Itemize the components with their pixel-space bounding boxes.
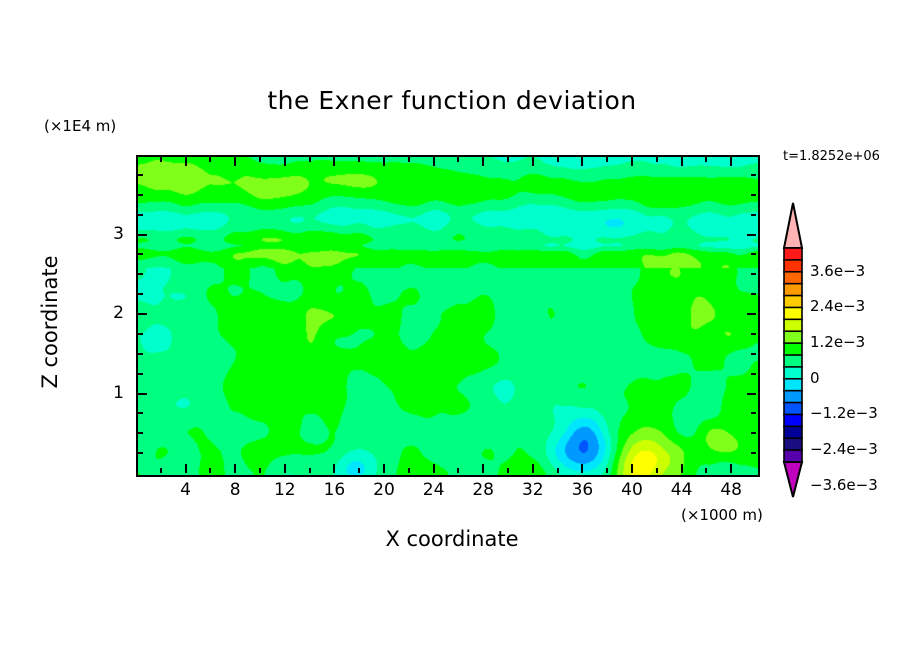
x-tick [581,157,583,166]
x-tick [160,157,162,162]
y-tick [138,412,143,414]
x-tick [160,468,162,473]
x-tick [532,464,534,473]
y-tick [747,313,756,315]
colorbar-tick-label: −1.2e−3 [810,404,878,422]
x-tick-label: 40 [612,480,652,500]
x-tick [408,468,410,473]
x-tick [259,468,261,473]
y-tick [751,273,756,275]
x-tick [681,464,683,473]
colorbar-segment [784,319,802,331]
y-tick [138,313,147,315]
x-tick [333,464,335,473]
y-tick [751,452,756,454]
x-tick [532,157,534,166]
contour-plot-area [136,155,760,477]
x-tick-label: 48 [711,480,751,500]
x-axis-unit-label: (×1000 m) [681,506,763,524]
y-tick [138,373,143,375]
colorbar-segment [784,414,802,426]
timestamp-annotation: t=1.8252e+06 [783,149,880,164]
colorbar-over-arrow [784,203,802,248]
x-tick [259,157,261,162]
x-tick [557,157,559,162]
colorbar-segment [784,260,802,272]
y-tick [138,432,143,434]
x-tick-label: 36 [562,480,602,500]
colorbar-segment [784,379,802,391]
y-tick [138,452,143,454]
y-tick [751,432,756,434]
x-tick [656,157,658,162]
x-tick-label: 4 [166,480,206,500]
colorbar-segment [784,272,802,284]
y-tick [751,253,756,255]
x-tick [557,468,559,473]
colorbar-segment [784,307,802,319]
x-tick [730,157,732,166]
x-tick [482,157,484,166]
x-tick [581,464,583,473]
y-tick [138,333,143,335]
x-tick [284,157,286,166]
contour-field-canvas [138,157,758,475]
x-tick [631,464,633,473]
x-tick-label: 32 [513,480,553,500]
x-tick [606,468,608,473]
colorbar-tick-label: 2.4e−3 [810,297,865,315]
colorbar-under-arrow [784,462,802,497]
x-tick [333,157,335,166]
x-tick [358,157,360,162]
y-axis-unit-label: (×1E4 m) [44,117,116,135]
x-tick [209,468,211,473]
y-tick [751,373,756,375]
x-tick [705,468,707,473]
x-tick [309,468,311,473]
x-tick [457,157,459,162]
x-tick [234,464,236,473]
x-tick [482,464,484,473]
x-tick-label: 44 [662,480,702,500]
y-tick [138,253,143,255]
x-tick [358,468,360,473]
colorbar-segment [784,367,802,379]
colorbar-segment [784,331,802,343]
x-tick [209,157,211,162]
x-tick [433,157,435,166]
x-tick-label: 24 [414,480,454,500]
x-axis-title: X coordinate [0,527,904,551]
x-tick [457,468,459,473]
x-tick [433,464,435,473]
colorbar-tick-label: −3.6e−3 [810,476,878,494]
colorbar-segment [784,343,802,355]
colorbar-segment [784,391,802,403]
colorbar-segment [784,403,802,415]
y-tick [751,333,756,335]
x-tick [234,157,236,166]
y-tick [747,234,756,236]
y-tick [138,293,143,295]
colorbar-svg [778,200,808,500]
x-tick-label: 8 [215,480,255,500]
x-tick [507,157,509,162]
x-tick [681,157,683,166]
x-tick [284,464,286,473]
x-tick [631,157,633,166]
x-tick [185,157,187,166]
x-tick [705,157,707,162]
x-tick-label: 12 [265,480,305,500]
y-tick-label: 3 [94,224,124,244]
x-tick [383,157,385,166]
x-tick-label: 16 [314,480,354,500]
y-tick [751,353,756,355]
y-tick [751,412,756,414]
y-tick [751,194,756,196]
colorbar-segment [784,450,802,462]
figure-root: the Exner function deviation (×1E4 m) t=… [0,0,904,654]
y-tick [138,194,143,196]
colorbar-segment [784,426,802,438]
colorbar-tick-label: 1.2e−3 [810,333,865,351]
y-tick [138,174,143,176]
y-tick [138,273,143,275]
colorbar-segment [784,248,802,260]
y-tick [138,214,143,216]
x-tick [383,464,385,473]
y-tick [751,214,756,216]
colorbar-segment [784,438,802,450]
x-tick-label: 28 [463,480,503,500]
x-tick [408,157,410,162]
colorbar-tick-label: −2.4e−3 [810,440,878,458]
y-axis-title: Z coordinate [38,212,62,432]
y-tick [751,293,756,295]
y-tick-label: 1 [94,383,124,403]
y-tick [138,393,147,395]
chart-title: the Exner function deviation [0,86,904,115]
colorbar-tick-label: 0 [810,369,820,387]
x-tick [507,468,509,473]
x-tick [309,157,311,162]
x-tick-label: 20 [364,480,404,500]
x-tick [185,464,187,473]
colorbar-tick-label: 3.6e−3 [810,262,865,280]
colorbar-segment [784,355,802,367]
y-tick [751,174,756,176]
y-tick-label: 2 [94,303,124,323]
y-tick [138,234,147,236]
x-tick [656,468,658,473]
x-tick [730,464,732,473]
colorbar [778,200,808,500]
y-tick [138,353,143,355]
y-tick [747,393,756,395]
colorbar-segment [784,296,802,308]
x-tick [606,157,608,162]
colorbar-segment [784,284,802,296]
